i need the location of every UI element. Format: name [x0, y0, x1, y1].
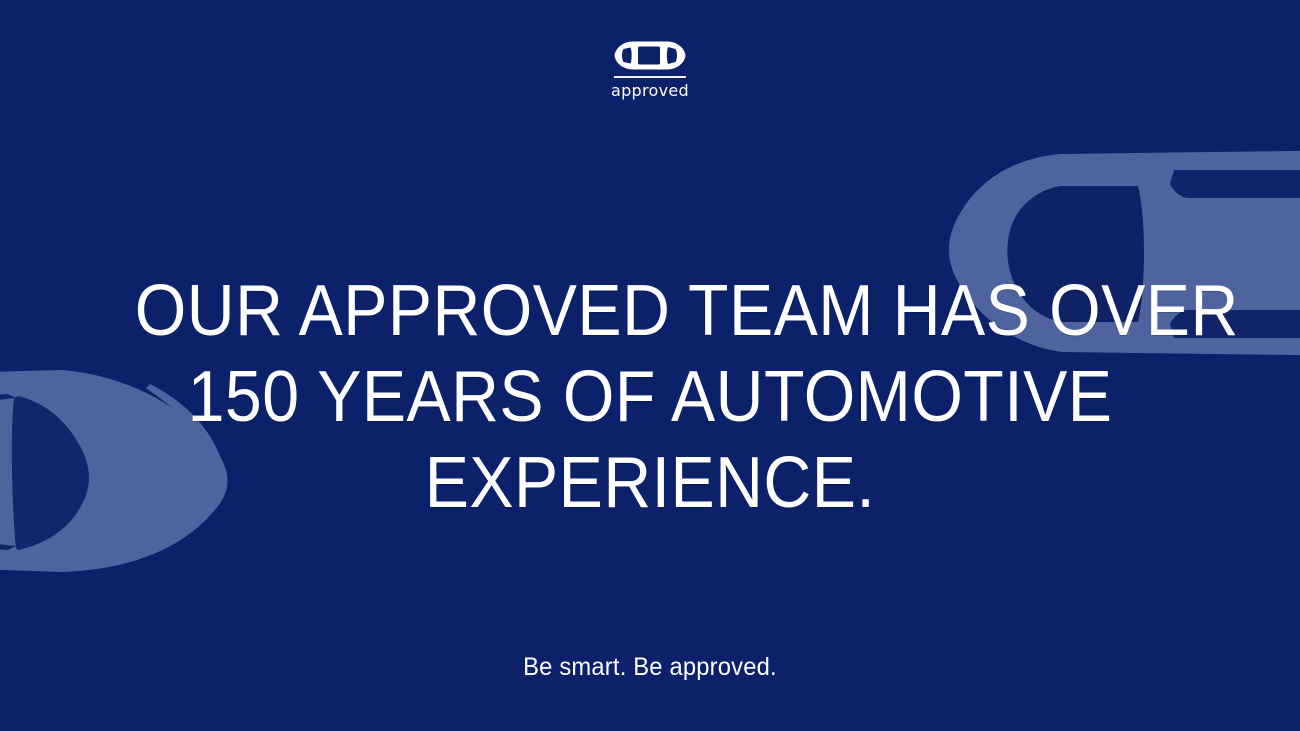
logo-wordmark: approved	[611, 83, 689, 99]
promo-slide: approved OUR APPROVED TEAM HAS OVER 150 …	[0, 0, 1300, 731]
headline-line-3: EXPERIENCE.	[135, 440, 1165, 526]
logo-divider	[614, 76, 686, 78]
brand-logo: approved	[0, 40, 1300, 99]
headline-line-1: OUR APPROVED TEAM HAS OVER	[135, 268, 1165, 354]
car-top-view-icon	[613, 40, 687, 71]
tagline: Be smart. Be approved.	[33, 652, 1268, 682]
page-title: OUR APPROVED TEAM HAS OVER 150 YEARS OF …	[90, 268, 1210, 526]
headline-line-2: 150 YEARS OF AUTOMOTIVE	[135, 354, 1165, 440]
